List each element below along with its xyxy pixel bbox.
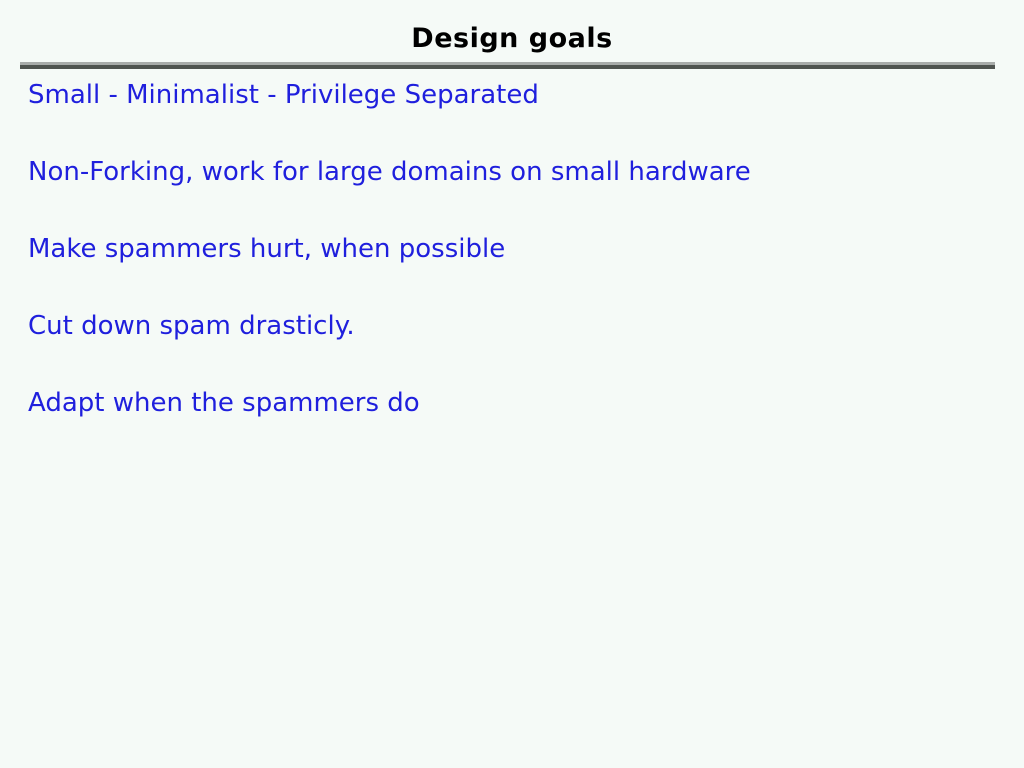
slide-body-line: Make spammers hurt, when possible [28, 232, 998, 309]
slide-body-line: Non-Forking, work for large domains on s… [28, 155, 998, 232]
page-title: Design goals [0, 22, 1024, 56]
slide-body-line: Cut down spam drasticly. [28, 309, 998, 386]
slide-body-line: Adapt when the spammers do [28, 386, 998, 463]
presentation-slide: Design goals Small - Minimalist - Privil… [0, 0, 1024, 768]
slide-body: Small - Minimalist - Privilege Separated… [28, 78, 998, 463]
slide-body-line: Small - Minimalist - Privilege Separated [28, 78, 998, 155]
title-divider-shadow [20, 65, 995, 69]
title-divider [20, 62, 995, 69]
